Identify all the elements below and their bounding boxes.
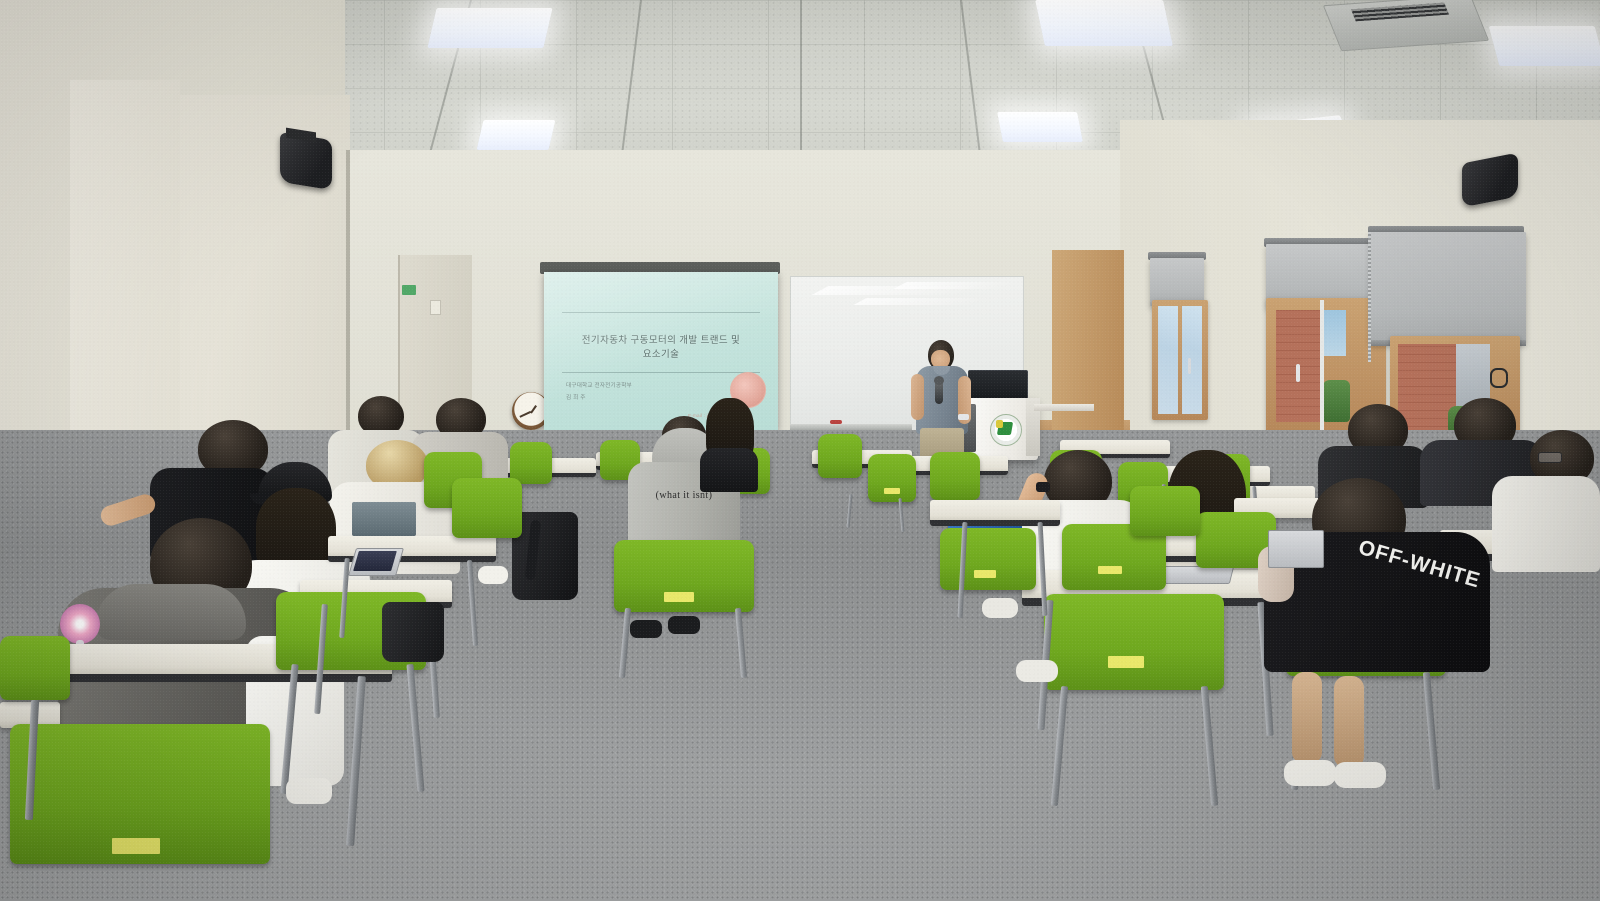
glasses-icon — [1538, 452, 1562, 463]
slide-title-line1: 전기자동차 구동모터의 개발 트랜드 및 — [554, 334, 768, 347]
chair-sticker — [1108, 656, 1144, 668]
leg-skin — [1292, 672, 1322, 764]
window-outside-brick — [1276, 310, 1324, 422]
window-blind — [1150, 258, 1204, 306]
shoe — [286, 778, 332, 804]
ceiling-light — [997, 112, 1083, 142]
shoe — [478, 566, 508, 584]
window-outside-foliage — [1322, 380, 1350, 422]
window-handle — [1188, 358, 1191, 374]
tablet-screen — [353, 551, 397, 571]
ceiling-light — [427, 8, 552, 48]
ceiling-light — [1489, 26, 1600, 66]
window-handle — [1296, 364, 1300, 382]
handbag — [382, 602, 444, 662]
chair[interactable] — [0, 636, 70, 700]
shoe — [668, 616, 700, 634]
tshirt-graphic — [352, 502, 416, 536]
microphone-head — [934, 376, 944, 385]
presenter-arm-left — [911, 374, 924, 420]
tablet[interactable] — [1158, 566, 1234, 584]
student-torso — [1492, 476, 1600, 572]
chair-sticker — [112, 838, 160, 854]
blind-chain — [1368, 232, 1371, 362]
chair-sticker — [1098, 566, 1122, 574]
lecture-hall-photo: 전기자동차 구동모터의 개발 트랜드 및 요소기술 대구대학교 전자전기공학부 … — [0, 0, 1600, 901]
window-handle — [1490, 368, 1508, 388]
podium-shelf — [1034, 404, 1094, 411]
whiteboard-marker — [830, 420, 842, 424]
window-outside-sky — [1324, 310, 1346, 356]
shoe — [630, 620, 662, 638]
presenter-watch — [958, 414, 969, 420]
smartwatch — [1036, 482, 1050, 492]
window-glass — [1182, 306, 1202, 414]
chair[interactable] — [868, 454, 916, 502]
slide-affiliation: 대구대학교 전자전기공학부 — [566, 382, 632, 391]
window-blind-lowered — [1370, 232, 1526, 344]
shoe — [1284, 760, 1336, 786]
whiteboard-reflection — [853, 298, 986, 305]
ceiling-light — [477, 120, 556, 150]
chair[interactable] — [940, 528, 1036, 590]
chair[interactable] — [930, 452, 980, 500]
shoe — [1334, 762, 1386, 788]
exit-sign — [402, 285, 416, 295]
ceiling-light — [1035, 0, 1173, 46]
chair[interactable] — [818, 434, 862, 478]
slide-presenter-name: 김 희 주 — [566, 394, 586, 403]
window-glass — [1158, 306, 1178, 414]
shoe — [1016, 660, 1058, 682]
leg-skin — [1334, 676, 1364, 768]
chair-sticker — [974, 570, 996, 578]
slide-title-line2: 요소기술 — [554, 348, 768, 361]
desk — [930, 500, 1060, 522]
tablet[interactable] — [1268, 530, 1324, 568]
chair[interactable] — [1044, 594, 1224, 690]
wall-switch — [430, 300, 441, 315]
chair-sticker — [884, 488, 900, 494]
whiteboard-reflection — [893, 282, 1016, 289]
chair-sticker — [664, 592, 694, 602]
shoe — [982, 598, 1018, 618]
crest-yellow-shape — [996, 420, 1003, 428]
slide-rule-top — [562, 312, 760, 313]
vest-hood — [96, 584, 246, 640]
chair[interactable] — [452, 478, 522, 538]
student-torso — [700, 448, 758, 492]
window-mullion — [1320, 300, 1324, 430]
slide-rule-bottom — [562, 372, 760, 373]
chair[interactable] — [1130, 486, 1200, 536]
chair[interactable] — [510, 442, 552, 484]
